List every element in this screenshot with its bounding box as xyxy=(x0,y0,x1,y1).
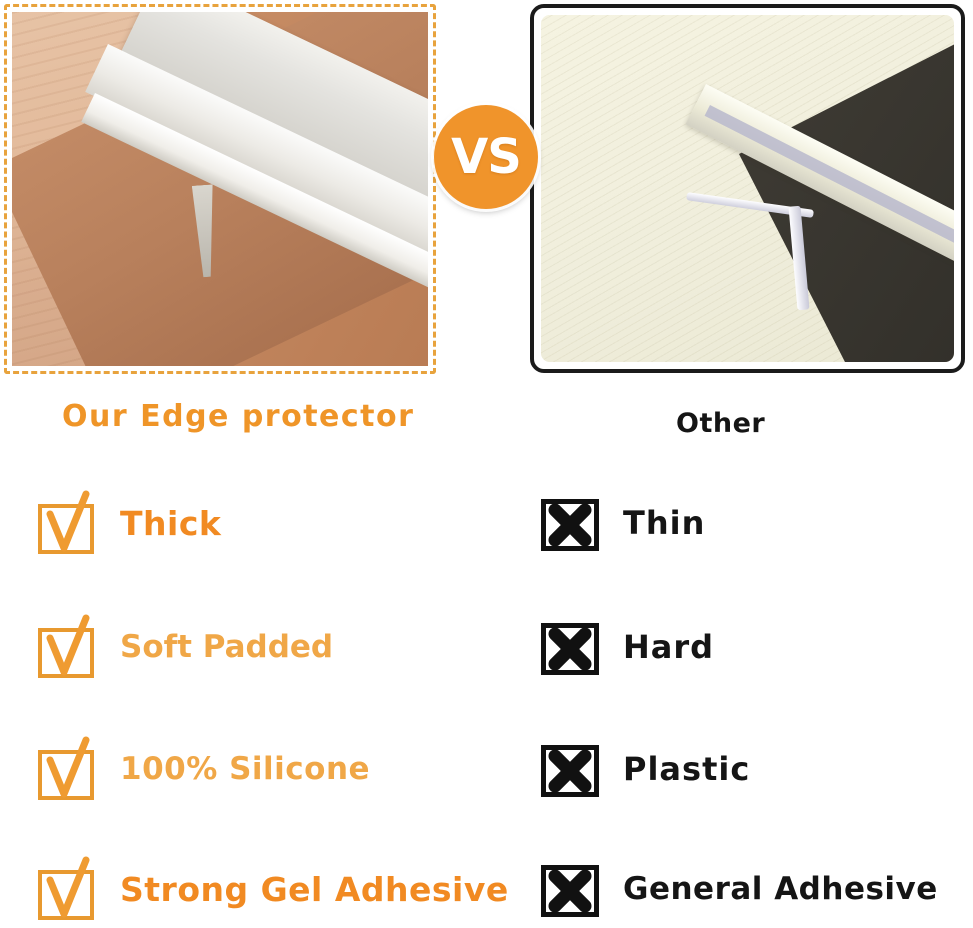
x-box-icon xyxy=(541,616,601,678)
x-box-icon xyxy=(541,492,601,554)
check-box-icon xyxy=(38,738,96,800)
x-box-icon xyxy=(541,858,601,920)
check-box-icon xyxy=(38,492,96,554)
feature-row-other-2: Plastic xyxy=(541,738,750,800)
feature-row-other-1: Hard xyxy=(541,616,714,678)
feature-row-other-3: General Adhesive xyxy=(541,858,938,920)
feature-row-ours-1: Soft Padded xyxy=(38,616,333,678)
our-edge-protector-photo-image xyxy=(12,12,428,366)
feature-row-ours-2: 100% Silicone xyxy=(38,738,370,800)
check-box-icon xyxy=(38,616,96,678)
feature-label-other-3: General Adhesive xyxy=(623,874,938,905)
feature-label-ours-0: Thick xyxy=(120,507,221,540)
other-edge-protector-photo-image xyxy=(541,15,954,362)
x-box-icon xyxy=(541,738,601,800)
feature-row-ours-3: Strong Gel Adhesive xyxy=(38,858,509,920)
feature-label-other-0: Thin xyxy=(623,507,705,539)
column-header-other: Other xyxy=(676,408,765,439)
column-header-ours: Our Edge protector xyxy=(62,399,414,434)
feature-label-ours-2: 100% Silicone xyxy=(120,754,370,785)
feature-label-ours-1: Soft Padded xyxy=(120,632,333,663)
feature-label-other-2: Plastic xyxy=(623,753,750,785)
vs-badge: VS xyxy=(434,105,538,209)
other-edge-protector-photo-panel xyxy=(530,4,965,373)
our-edge-protector-photo-panel xyxy=(4,4,436,374)
check-box-icon xyxy=(38,858,96,920)
feature-row-other-0: Thin xyxy=(541,492,705,554)
vs-badge-label: VS xyxy=(451,133,521,181)
feature-row-ours-0: Thick xyxy=(38,492,221,554)
feature-label-ours-3: Strong Gel Adhesive xyxy=(120,873,509,906)
feature-label-other-1: Hard xyxy=(623,631,714,663)
